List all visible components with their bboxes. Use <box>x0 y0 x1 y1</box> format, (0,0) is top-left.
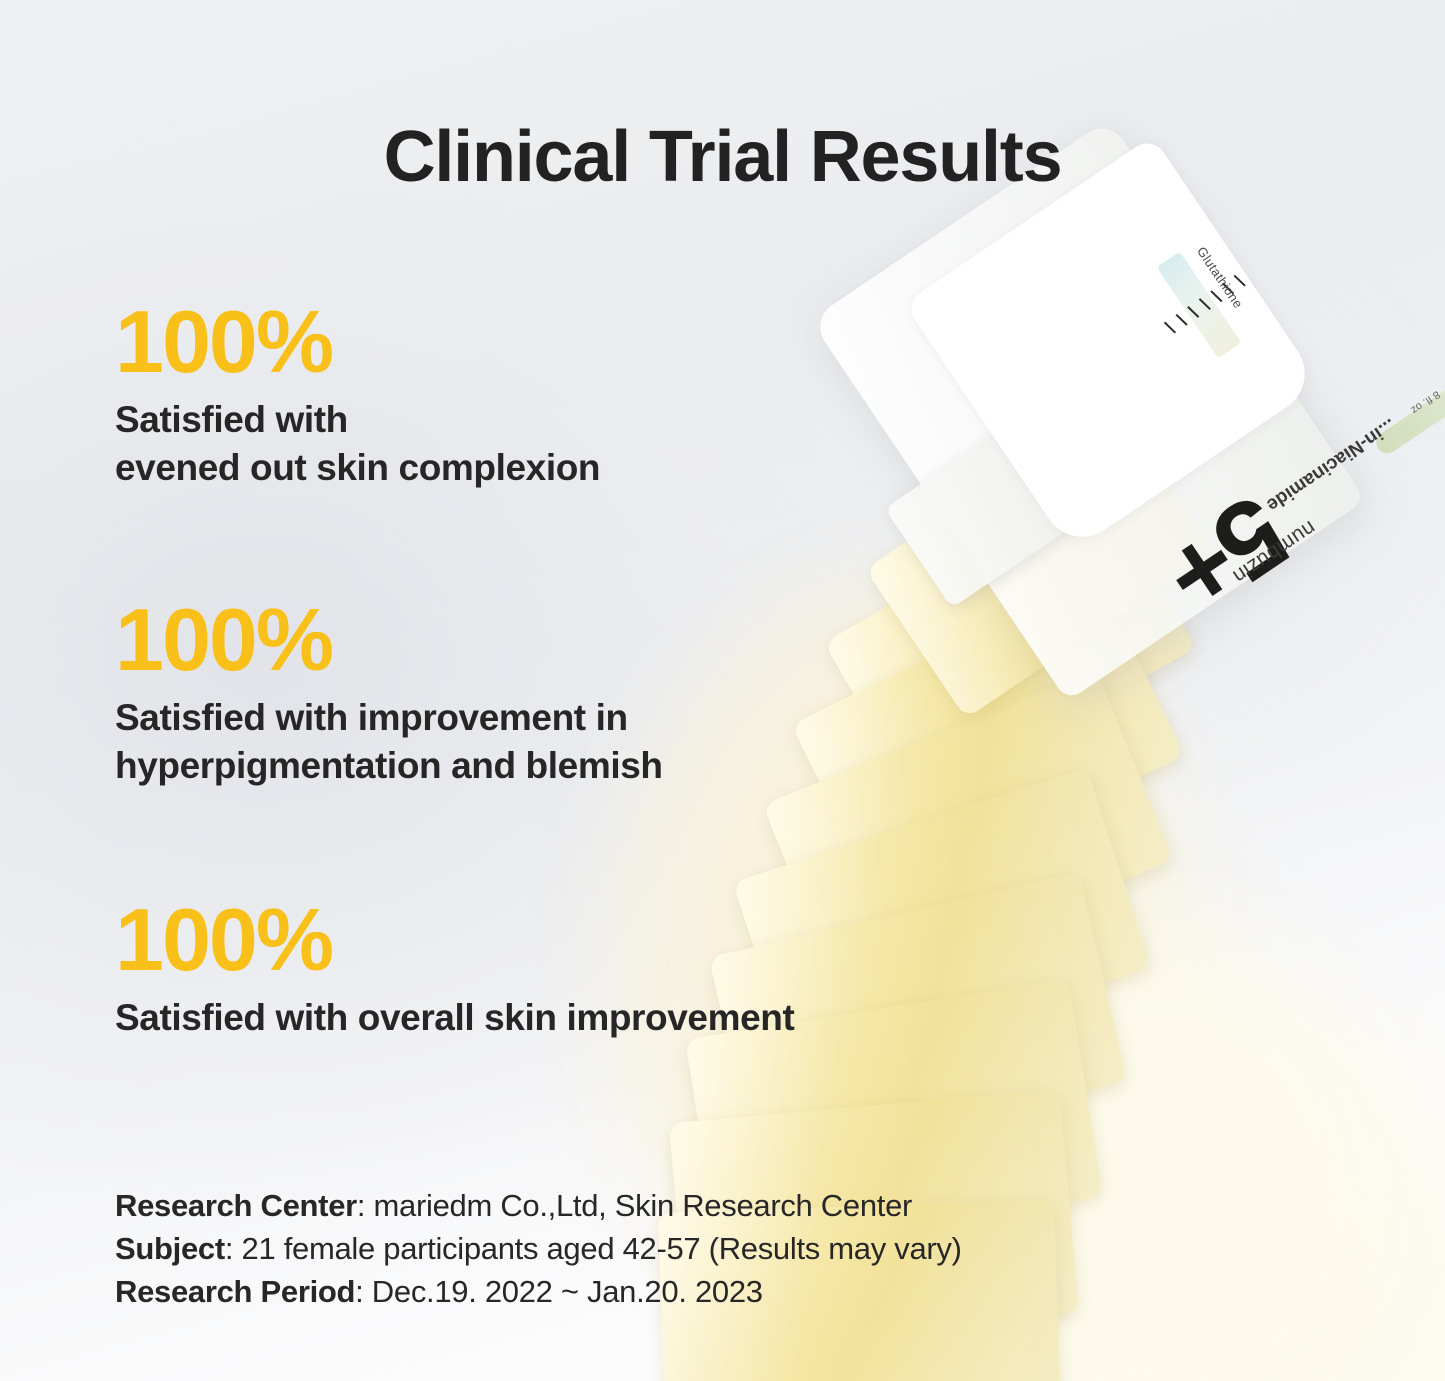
stat-block-3: 100% Satisfied with overall skin improve… <box>115 894 794 1042</box>
footnote-research-period-value: : Dec.19. 2022 ~ Jan.20. 2023 <box>355 1274 763 1309</box>
footnote-research-center-key: Research Center <box>115 1188 357 1223</box>
stat-label-2-line-2: hyperpigmentation and blemish <box>115 742 663 789</box>
footnote-subject-value: : 21 female participants aged 42-57 (Res… <box>225 1231 962 1266</box>
stat-label-2-line-1: Satisfied with improvement in <box>115 694 663 741</box>
stat-value-1: 100% <box>115 296 600 388</box>
content-layer: Clinical Trial Results 100% Satisfied wi… <box>0 0 1445 1381</box>
footnote-subject: Subject: 21 female participants aged 42-… <box>115 1228 962 1271</box>
footnote: Research Center: mariedm Co.,Ltd, Skin R… <box>115 1185 962 1313</box>
stat-block-2: 100% Satisfied with improvement in hyper… <box>115 594 663 789</box>
stat-label-3-line-1: Satisfied with overall skin improvement <box>115 994 794 1041</box>
page-title: Clinical Trial Results <box>0 116 1445 198</box>
stat-label-2: Satisfied with improvement in hyperpigme… <box>115 694 663 789</box>
stat-label-3: Satisfied with overall skin improvement <box>115 994 794 1041</box>
footnote-research-center-value: : mariedm Co.,Ltd, Skin Research Center <box>357 1188 912 1223</box>
stat-label-1-line-1: Satisfied with <box>115 396 600 443</box>
stat-value-2: 100% <box>115 594 663 686</box>
footnote-research-period-key: Research Period <box>115 1274 355 1309</box>
stat-label-1-line-2: evened out skin complexion <box>115 444 600 491</box>
stat-block-1: 100% Satisfied with evened out skin comp… <box>115 296 600 491</box>
footnote-research-center: Research Center: mariedm Co.,Ltd, Skin R… <box>115 1185 962 1228</box>
stat-label-1: Satisfied with evened out skin complexio… <box>115 396 600 491</box>
stat-value-3: 100% <box>115 894 794 986</box>
footnote-research-period: Research Period: Dec.19. 2022 ~ Jan.20. … <box>115 1271 962 1314</box>
footnote-subject-key: Subject <box>115 1231 225 1266</box>
clinical-trial-results-page: 5+ Glutathione ...in-Niacinamide numbuzi… <box>0 0 1445 1381</box>
